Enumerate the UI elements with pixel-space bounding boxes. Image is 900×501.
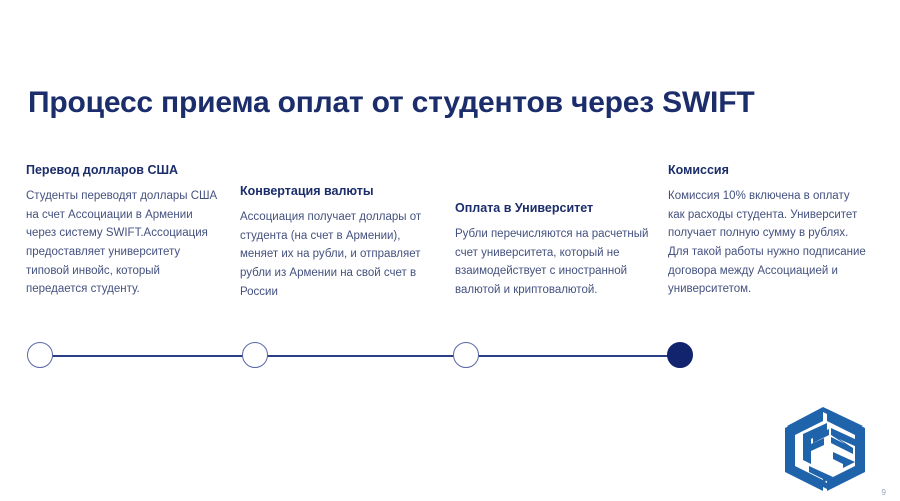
step-heading-1: Перевод долларов США xyxy=(26,163,222,178)
step-heading-3: Оплата в Университет xyxy=(455,201,653,216)
step-heading-2: Конвертация валюты xyxy=(240,184,436,199)
step-item-2: Конвертация валюты Ассоциация получает д… xyxy=(240,184,436,301)
step-body-2: Ассоциация получает доллары от студента … xyxy=(240,208,436,301)
cube-hexagon-logo-icon xyxy=(779,404,871,494)
step-item-1: Перевод долларов США Студенты переводят … xyxy=(26,163,222,299)
timeline xyxy=(0,330,900,385)
timeline-node-4-active xyxy=(667,342,693,368)
slide: Процесс приема оплат от студентов через … xyxy=(0,0,900,501)
step-heading-4: Комиссия xyxy=(668,163,868,178)
step-item-4: Комиссия Комиссия 10% включена в оплату … xyxy=(668,163,868,299)
step-body-1: Студенты переводят доллары США на счет А… xyxy=(26,187,222,299)
step-body-3: Рубли перечисляются на расчетный счет ун… xyxy=(455,225,653,300)
step-item-3: Оплата в Университет Рубли перечисляются… xyxy=(455,201,653,300)
timeline-node-1 xyxy=(27,342,53,368)
timeline-connector-line xyxy=(40,355,680,357)
page-number: 9 xyxy=(882,488,886,497)
timeline-node-2 xyxy=(242,342,268,368)
timeline-node-3 xyxy=(453,342,479,368)
steps-container: Перевод долларов США Студенты переводят … xyxy=(0,0,900,330)
step-body-4: Комиссия 10% включена в оплату как расхо… xyxy=(668,187,868,299)
